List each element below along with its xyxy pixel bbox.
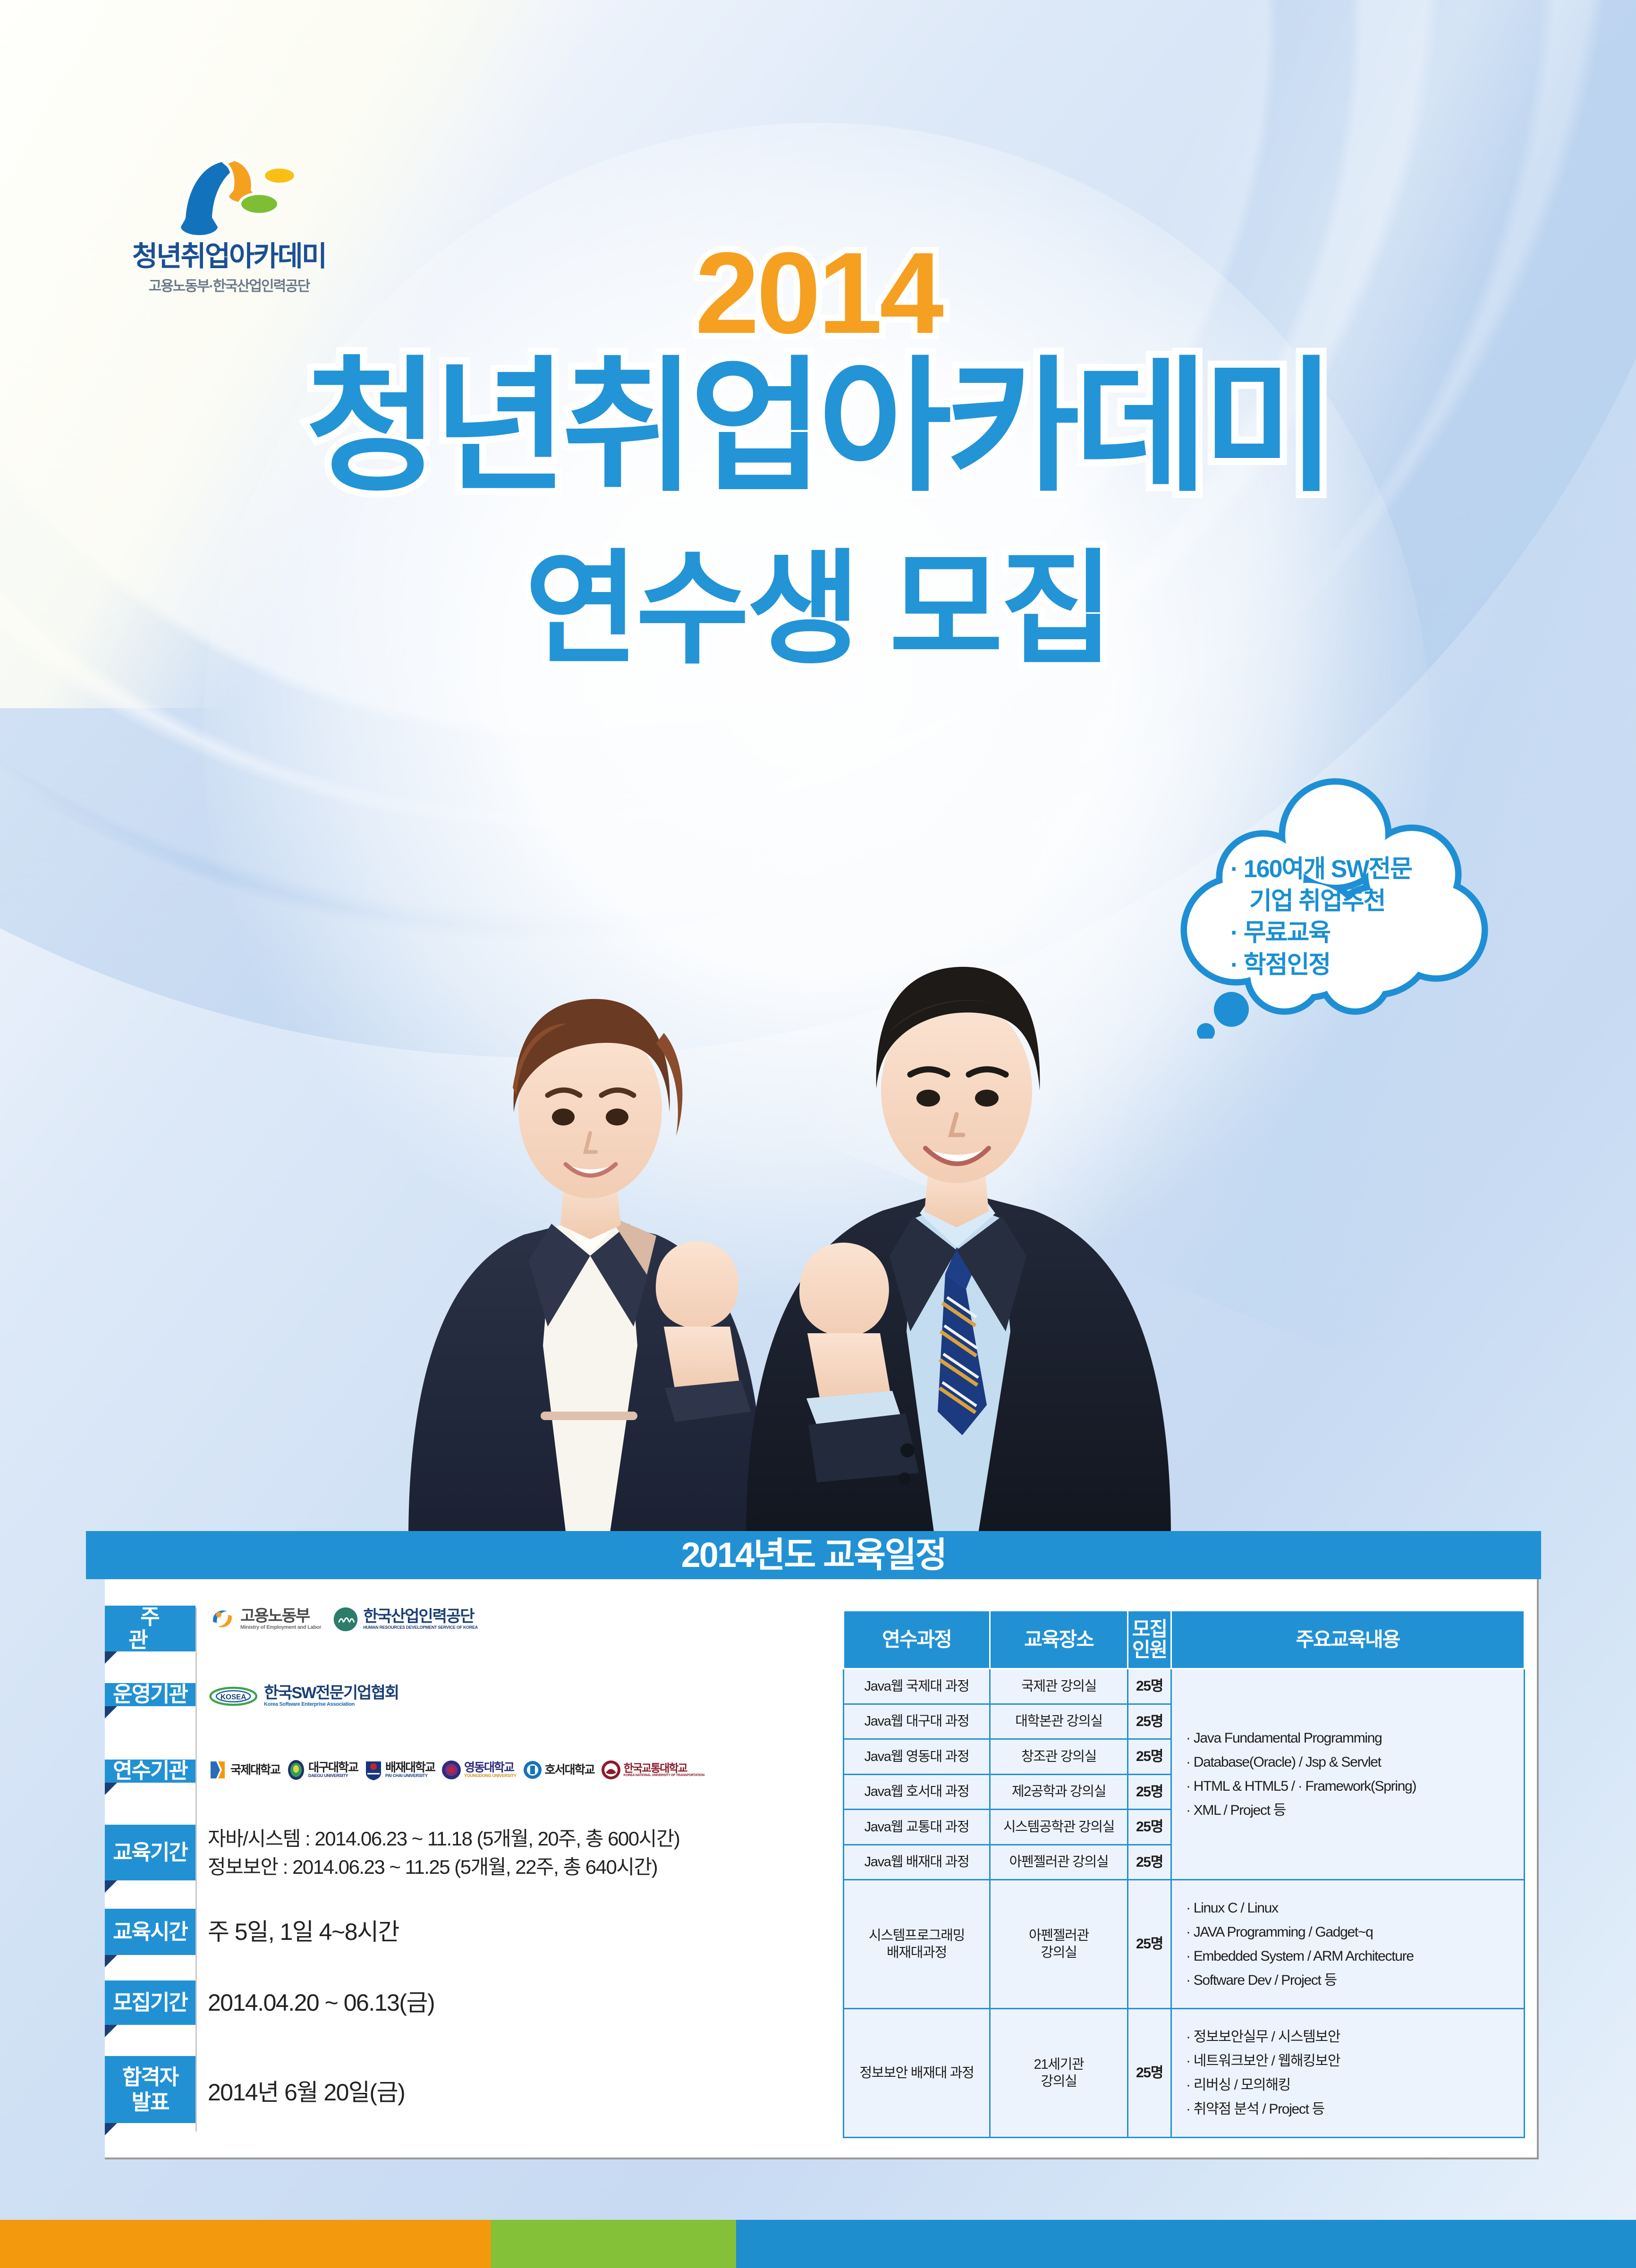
cell-course: 시스템프로그래밍 배재대과정 <box>844 1880 990 2009</box>
info-row-application: 모집기간 2014.04.20 ~ 06.13(금) <box>105 1980 434 2025</box>
cell-capacity: 25명 <box>1128 1774 1171 1810</box>
cell-course: Java웹 영동대 과정 <box>844 1739 990 1775</box>
sys-desc-4: · Software Dev / Project 등 <box>1186 1968 1521 1992</box>
th-course: 연수과정 <box>844 1611 990 1669</box>
bubble-line-3: · 무료교육 <box>1230 917 1452 949</box>
sec-desc-4: · 취약점 분석 / Project 등 <box>1186 2097 1521 2121</box>
bubble-line-1: · 160여개 SW전문 <box>1230 854 1452 886</box>
stripe-green <box>491 2220 737 2268</box>
moel-name-ko: 고용노동부 <box>240 1608 321 1625</box>
hrdkorea-name-en: HUMAN RESOURCES DEVELOPMENT SERVICE OF K… <box>363 1625 478 1630</box>
info-list: 주관 고용노동부 Ministry of Employment and Labo… <box>105 1579 822 2158</box>
logo-knut: 한국교통대학교 KOREA NATIONAL UNIVERSITY OF TRA… <box>601 1760 704 1780</box>
info-value-application: 2014.04.20 ~ 06.13(금) <box>195 1980 434 2020</box>
kosea-name-ko: 한국SW전문기업협회 <box>264 1685 398 1702</box>
thought-bubble-text: · 160여개 SW전문 기업 취업추천 · 무료교육 · 학점인정 <box>1230 854 1452 981</box>
info-row-period: 교육기간 자바/시스템 : 2014.06.23 ~ 11.18 (5개월, 2… <box>105 1825 679 1881</box>
java-desc-4: · XML / Project 등 <box>1186 1798 1521 1822</box>
hero-year: 2014 <box>0 235 1636 351</box>
sys-desc-3: · Embedded System / ARM Architecture <box>1186 1944 1521 1968</box>
logo-daegu: 대구대학교 DAEGU UNIVERSITY <box>287 1760 358 1780</box>
info-label-hours: 교육시간 <box>105 1909 195 1955</box>
daegu-name-en: DAEGU UNIVERSITY <box>308 1774 358 1778</box>
institution-logos: 국제대학교 대구대학교 DAEGU UNIVERSITY <box>195 1760 704 1780</box>
cell-capacity: 25명 <box>1128 2009 1171 2138</box>
course-schedule-table: 연수과정 교육장소 모집 인원 주요교육내용 Java웹 국제대 과정 국제관 … <box>843 1610 1525 2138</box>
youngdong-emblem-icon <box>441 1760 461 1780</box>
info-label-application: 모집기간 <box>105 1980 195 2025</box>
info-value-period: 자바/시스템 : 2014.06.23 ~ 11.18 (5개월, 20주, 총… <box>195 1825 679 1881</box>
th-capacity-line1: 모집 <box>1130 1619 1169 1640</box>
cell-place: 21세기관 강의실 <box>990 2009 1128 2138</box>
info-row-operator: 운영기관 KOSEA 한국SW전문기업협회 Korea Software Ent… <box>105 1683 398 1709</box>
host-logos: 고용노동부 Ministry of Employment and Labor 한… <box>195 1606 478 1633</box>
info-row-host: 주관 고용노동부 Ministry of Employment and Labo… <box>105 1606 478 1651</box>
sys-desc-2: · JAVA Programming / Gadget~q <box>1186 1920 1521 1944</box>
info-value-announcement: 2014년 6월 20일(금) <box>195 2056 405 2109</box>
sec-place-line1: 21세기관 <box>993 2056 1124 2073</box>
cell-content-system: · Linux C / Linux · JAVA Programming / G… <box>1171 1880 1525 2009</box>
java-desc-1: · Java Fundamental Programming <box>1186 1726 1521 1750</box>
table-row: Java웹 국제대 과정 국제관 강의실 25명 · Java Fundamen… <box>844 1669 1525 1704</box>
cell-content-security: · 정보보안실무 / 시스템보안 · 네트워크보안 / 웹해킹보안 · 리버싱 … <box>1171 2009 1525 2138</box>
logo-youngdong: 영동대학교 YOUNGDONG UNIVERSITY <box>441 1760 517 1780</box>
logo-mark-icon <box>151 146 307 241</box>
sys-course-line2: 배재대과정 <box>847 1944 986 1961</box>
youngdong-name-en: YOUNGDONG UNIVERSITY <box>464 1774 517 1778</box>
stripe-orange <box>0 2220 491 2268</box>
schedule-banner: 2014년도 교육일정 <box>86 1531 1541 1579</box>
cell-place: 제2공학과 강의실 <box>990 1774 1128 1810</box>
bubble-line-2: 기업 취업추천 <box>1230 886 1452 918</box>
kosea-emblem-icon: KOSEA <box>209 1683 260 1709</box>
cell-course: Java웹 배재대 과정 <box>844 1845 990 1880</box>
th-capacity: 모집 인원 <box>1128 1611 1171 1669</box>
hoseo-emblem-icon <box>523 1760 542 1780</box>
knut-name-en: KOREA NATIONAL UNIVERSITY OF TRANSPORTAT… <box>624 1774 704 1777</box>
hoseo-name-ko: 호서대학교 <box>545 1764 594 1776</box>
thought-bubble: · 160여개 SW전문 기업 취업추천 · 무료교육 · 학점인정 <box>1166 774 1497 1039</box>
logo-shapes-icon <box>151 146 307 241</box>
cell-course: Java웹 교통대 과정 <box>844 1810 990 1845</box>
th-place: 교육장소 <box>990 1611 1128 1669</box>
logo-kosea: KOSEA 한국SW전문기업협회 Korea Software Enterpri… <box>209 1683 398 1709</box>
sys-course-line1: 시스템프로그래밍 <box>847 1927 986 1944</box>
cell-place: 창조관 강의실 <box>990 1739 1128 1775</box>
table-header-row: 연수과정 교육장소 모집 인원 주요교육내용 <box>844 1611 1525 1669</box>
cell-place: 아펜젤러관 강의실 <box>990 1880 1128 2009</box>
sec-desc-3: · 리버싱 / 모의해킹 <box>1186 2073 1521 2097</box>
info-label-announcement: 합격자 발표 <box>105 2056 195 2123</box>
svg-text:KOSEA: KOSEA <box>220 1693 246 1701</box>
java-desc-3: · HTML & HTML5 / · Framework(Spring) <box>1186 1774 1521 1798</box>
info-value-hours: 주 5일, 1일 4~8시간 <box>195 1909 399 1949</box>
schedule-banner-title: 2014년도 교육일정 <box>86 1531 1541 1579</box>
stripe-blue <box>736 2220 1636 2268</box>
th-content: 주요교육내용 <box>1171 1611 1525 1669</box>
period-line-1: 자바/시스템 : 2014.06.23 ~ 11.18 (5개월, 20주, 총… <box>208 1825 679 1853</box>
moel-emblem-icon <box>209 1606 236 1633</box>
paichai-name-en: PAI CHAI UNIVERSITY <box>385 1774 435 1778</box>
cell-place: 국제관 강의실 <box>990 1669 1128 1704</box>
info-row-hours: 교육시간 주 5일, 1일 4~8시간 <box>105 1909 399 1955</box>
sec-desc-1: · 정보보안실무 / 시스템보안 <box>1186 2025 1521 2049</box>
sys-place-line1: 아펜젤러관 <box>993 1927 1124 1944</box>
info-row-announcement: 합격자 발표 2014년 6월 20일(금) <box>105 2056 405 2123</box>
info-label-host: 주관 <box>105 1606 195 1651</box>
paichai-name-ko: 배재대학교 <box>385 1761 435 1774</box>
bubble-line-4: · 학점인정 <box>1230 949 1452 982</box>
footer-color-stripe <box>0 2220 1636 2268</box>
info-label-period: 교육기간 <box>105 1825 195 1880</box>
cell-place: 시스템공학관 강의실 <box>990 1810 1128 1845</box>
logo-hoseo: 호서대학교 <box>523 1760 594 1780</box>
cell-capacity: 25명 <box>1128 1810 1171 1845</box>
info-label-institutions: 연수기관 <box>105 1760 195 1783</box>
hrdkorea-emblem-icon <box>332 1606 359 1633</box>
paichai-emblem-icon <box>364 1760 382 1780</box>
daegu-emblem-icon <box>287 1760 305 1780</box>
table-row: 시스템프로그래밍 배재대과정 아펜젤러관 강의실 25명 · Linux C /… <box>844 1880 1525 2009</box>
students-illustration-icon <box>326 718 1204 1539</box>
info-row-institutions: 연수기관 국제대학교 대구대학교 DAEGU UNIVERSITY <box>105 1760 704 1783</box>
java-desc-2: · Database(Oracle) / Jsp & Servlet <box>1186 1750 1521 1774</box>
cell-capacity: 25명 <box>1128 1704 1171 1739</box>
students-photo <box>326 718 1204 1539</box>
knut-emblem-icon <box>601 1760 621 1780</box>
cell-course: Java웹 대구대 과정 <box>844 1704 990 1739</box>
announcement-label-line1: 합격자 <box>122 2065 178 2090</box>
table-row: 정보보안 배재대 과정 21세기관 강의실 25명 · 정보보안실무 / 시스템… <box>844 2009 1525 2138</box>
cell-course: Java웹 국제대 과정 <box>844 1669 990 1704</box>
cell-course: Java웹 호서대 과정 <box>844 1774 990 1810</box>
period-line-2: 정보보안 : 2014.06.23 ~ 11.25 (5개월, 22주, 총 6… <box>208 1853 679 1881</box>
hero-title-line1: 청년취업아카데미 <box>0 352 1636 503</box>
hero-title-line2: 연수생 모집 <box>0 545 1636 674</box>
th-capacity-line2: 인원 <box>1130 1640 1169 1660</box>
sec-desc-2: · 네트워크보안 / 웹해킹보안 <box>1186 2049 1521 2073</box>
cell-content-java: · Java Fundamental Programming · Databas… <box>1171 1669 1525 1880</box>
sec-place-line2: 강의실 <box>993 2073 1124 2090</box>
operator-logos: KOSEA 한국SW전문기업협회 Korea Software Enterpri… <box>195 1683 398 1709</box>
kookje-name-ko: 국제대학교 <box>230 1764 280 1776</box>
sys-desc-1: · Linux C / Linux <box>1186 1896 1521 1920</box>
cell-place: 아펜젤러관 강의실 <box>990 1845 1128 1880</box>
cell-capacity: 25명 <box>1128 1880 1171 2009</box>
logo-moel: 고용노동부 Ministry of Employment and Labor <box>209 1606 321 1633</box>
kosea-name-en: Korea Software Enterprise Association <box>264 1702 398 1708</box>
logo-kookje: 국제대학교 <box>209 1760 280 1780</box>
cell-place: 대학본관 강의실 <box>990 1704 1128 1739</box>
daegu-name-ko: 대구대학교 <box>308 1761 358 1774</box>
knut-name-ko: 한국교통대학교 <box>624 1762 704 1774</box>
logo-paichai: 배재대학교 PAI CHAI UNIVERSITY <box>364 1760 435 1780</box>
moel-name-en: Ministry of Employment and Labor <box>240 1625 321 1631</box>
info-label-operator: 운영기관 <box>105 1683 195 1706</box>
cell-capacity: 25명 <box>1128 1739 1171 1775</box>
cell-course: 정보보안 배재대 과정 <box>844 2009 990 2138</box>
hrdkorea-name-ko: 한국산업인력공단 <box>363 1608 478 1625</box>
sys-place-line2: 강의실 <box>993 1944 1124 1961</box>
youngdong-name-ko: 영동대학교 <box>464 1761 517 1774</box>
logo-hrdkorea: 한국산업인력공단 HUMAN RESOURCES DEVELOPMENT SER… <box>332 1606 478 1633</box>
announcement-label-line2: 발표 <box>132 2090 169 2115</box>
kookje-emblem-icon <box>209 1760 228 1780</box>
cell-capacity: 25명 <box>1128 1669 1171 1704</box>
cell-capacity: 25명 <box>1128 1845 1171 1880</box>
